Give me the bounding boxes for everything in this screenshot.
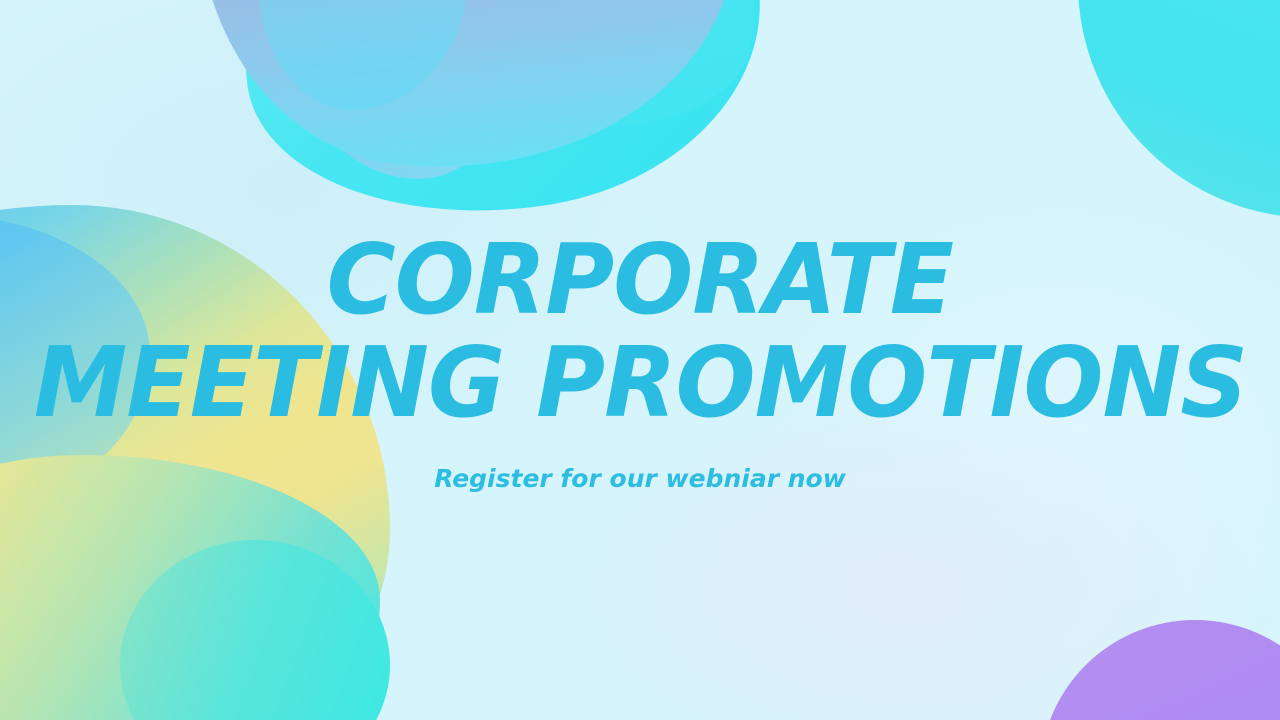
promotional-slide: CORPORATE MEETING PROMOTIONS Register fo… <box>0 0 1280 720</box>
subheadline: Register for our webniar now <box>434 464 846 493</box>
headline-line-2: MEETING PROMOTIONS <box>33 330 1246 437</box>
headline-line-1: CORPORATE <box>327 227 953 334</box>
slide-content: CORPORATE MEETING PROMOTIONS Register fo… <box>0 0 1280 720</box>
